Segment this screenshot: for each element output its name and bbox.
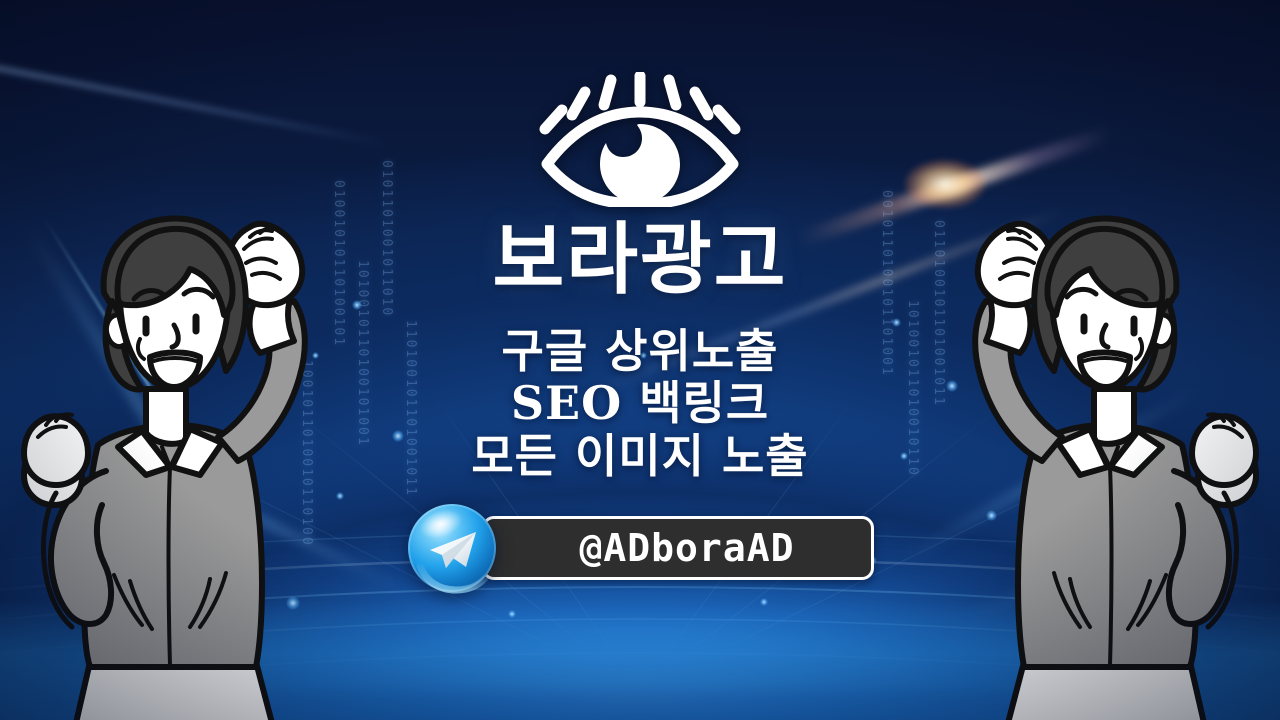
telegram-handle-badge[interactable]: @ADboraAD — [482, 516, 874, 580]
telegram-handle-text: @ADboraAD — [580, 529, 795, 567]
tagline-line-2: SEO 백링크 — [471, 377, 808, 429]
eye-icon — [531, 72, 749, 207]
telegram-icon[interactable] — [406, 502, 498, 594]
tagline-block: 구글 상위노출 SEO 백링크 모든 이미지 노출 — [471, 325, 808, 482]
tagline-line-3: 모든 이미지 노출 — [471, 430, 808, 482]
poster-content: 보라광고 구글 상위노출 SEO 백링크 모든 이미지 노출 — [0, 0, 1280, 594]
promo-poster: 01001010110100101 1010010110100101001 01… — [0, 0, 1280, 720]
tagline-line-1: 구글 상위노출 — [471, 325, 808, 377]
brand-name: 보라광고 — [492, 221, 787, 299]
contact-row: @ADboraAD — [406, 502, 874, 594]
